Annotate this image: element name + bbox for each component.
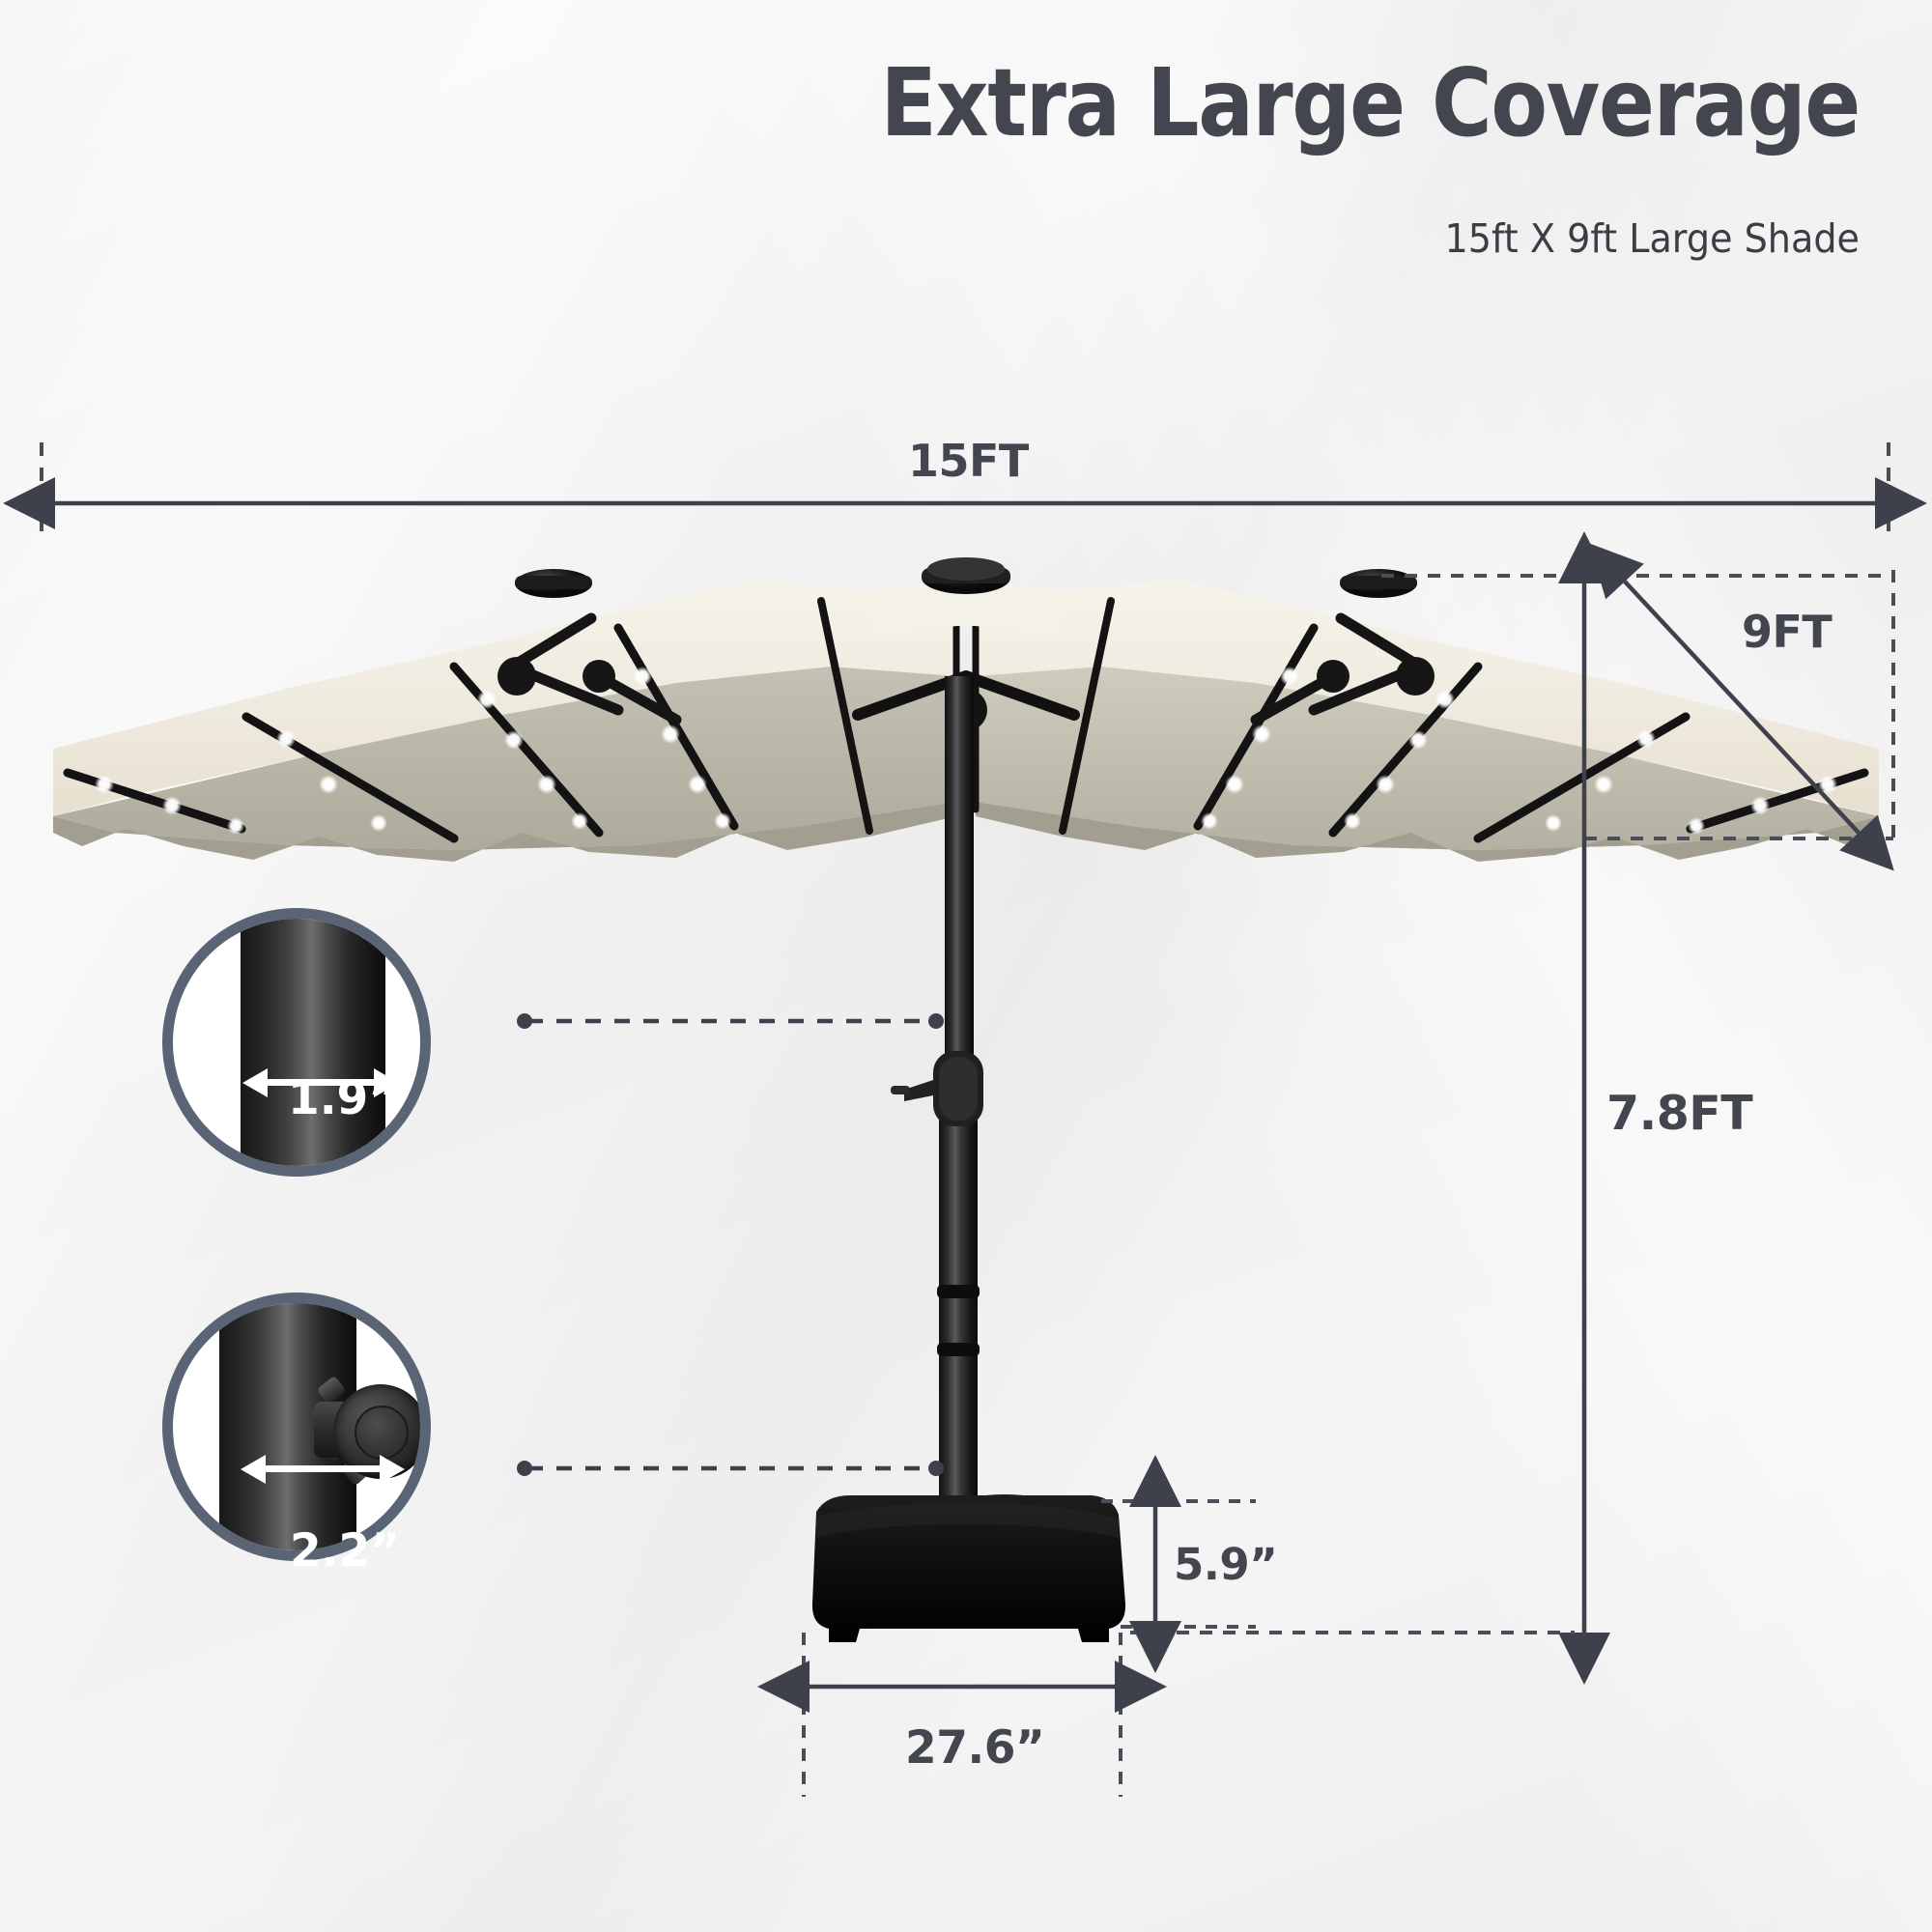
callout-label-pole-diameter: 1.9” xyxy=(288,1072,398,1125)
callout-pole-diameter xyxy=(162,908,431,1177)
dimension-label-base-width: 27.6” xyxy=(905,1721,1044,1775)
pole-diameter-arrow-head-left xyxy=(242,1068,268,1097)
callout-leader-line-1 xyxy=(517,1013,944,1029)
callout-knob-diameter xyxy=(162,1293,431,1561)
knob-diameter-arrow-shaft xyxy=(266,1465,384,1472)
dimension-label-overall-width: 15FT xyxy=(908,435,1029,487)
callout-leader-line-2 xyxy=(517,1461,944,1476)
knob-diameter-arrow-head-left xyxy=(241,1455,266,1484)
pole-tube-closeup xyxy=(241,908,385,1177)
knob-diameter-arrow-head-right xyxy=(380,1455,405,1484)
dimension-label-canopy-depth: 9FT xyxy=(1742,606,1832,658)
callout-label-knob-diameter: 2.2” xyxy=(290,1524,400,1577)
dimension-label-overall-height: 7.8FT xyxy=(1606,1086,1752,1141)
dimension-label-base-height: 5.9” xyxy=(1174,1539,1277,1590)
dim-overall-height xyxy=(1130,583,1584,1633)
